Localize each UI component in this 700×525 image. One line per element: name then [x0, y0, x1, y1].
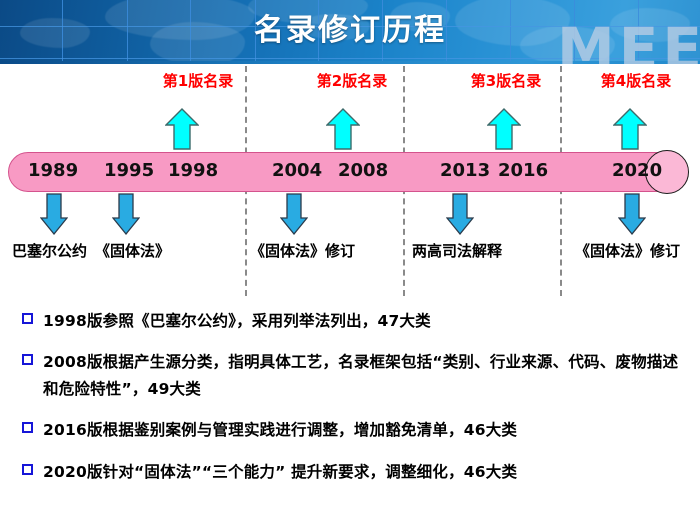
down-arrow-judicial-interpretation	[446, 193, 474, 235]
year-2008: 2008	[338, 160, 388, 181]
down-arrow-solid-waste-law-revision-2	[618, 193, 646, 235]
event-label-judicial-interpretation: 两高司法解释	[412, 240, 502, 261]
year-1998: 1998	[168, 160, 218, 181]
year-2020: 2020	[612, 160, 662, 181]
bullet-square-icon	[22, 313, 33, 324]
header-banner: MEE 名录修订历程	[0, 0, 700, 64]
event-label-solid-waste-law-revision-2: 《固体法》修订	[575, 240, 680, 261]
version-label-4: 第4版名录	[586, 70, 686, 91]
event-label-basel-convention: 巴塞尔公约	[12, 240, 87, 261]
version-label-2: 第2版名录	[302, 70, 402, 91]
down-arrow-solid-waste-law	[112, 193, 140, 235]
bullet-list: 1998版参照《巴塞尔公约》，采用列举法列出，47大类 2008版根据产生源分类…	[22, 308, 682, 500]
year-1989: 1989	[28, 160, 78, 181]
event-label-solid-waste-law-revision: 《固体法》修订	[250, 240, 355, 261]
version-label-1: 第1版名录	[148, 70, 248, 91]
up-arrow-version-4	[613, 108, 647, 150]
up-arrow-version-2	[326, 108, 360, 150]
page-title: 名录修订历程	[0, 5, 700, 49]
year-2013: 2013	[440, 160, 490, 181]
down-arrow-basel-convention	[40, 193, 68, 235]
up-arrow-version-1	[165, 108, 199, 150]
list-item-text: 2016版根据鉴别案例与管理实践进行调整，增加豁免清单，46大类	[43, 417, 517, 444]
bullet-square-icon	[22, 354, 33, 365]
list-item-text: 2020版针对“固体法”“三个能力” 提升新要求，调整细化，46大类	[43, 459, 517, 486]
year-1995: 1995	[104, 160, 154, 181]
bullet-square-icon	[22, 422, 33, 433]
list-item: 2016版根据鉴别案例与管理实践进行调整，增加豁免清单，46大类	[22, 417, 682, 444]
up-arrow-version-3	[487, 108, 521, 150]
year-2016: 2016	[498, 160, 548, 181]
list-item-text: 1998版参照《巴塞尔公约》，采用列举法列出，47大类	[43, 308, 431, 335]
bullet-square-icon	[22, 464, 33, 475]
list-item-text: 2008版根据产生源分类，指明具体工艺，名录框架包括“类别、行业来源、代码、废物…	[43, 349, 682, 403]
version-label-3: 第3版名录	[456, 70, 556, 91]
list-item: 2020版针对“固体法”“三个能力” 提升新要求，调整细化，46大类	[22, 459, 682, 486]
list-item: 2008版根据产生源分类，指明具体工艺，名录框架包括“类别、行业来源、代码、废物…	[22, 349, 682, 403]
year-2004: 2004	[272, 160, 322, 181]
list-item: 1998版参照《巴塞尔公约》，采用列举法列出，47大类	[22, 308, 682, 335]
event-label-solid-waste-law: 《固体法》	[95, 240, 170, 261]
down-arrow-solid-waste-law-revision	[280, 193, 308, 235]
